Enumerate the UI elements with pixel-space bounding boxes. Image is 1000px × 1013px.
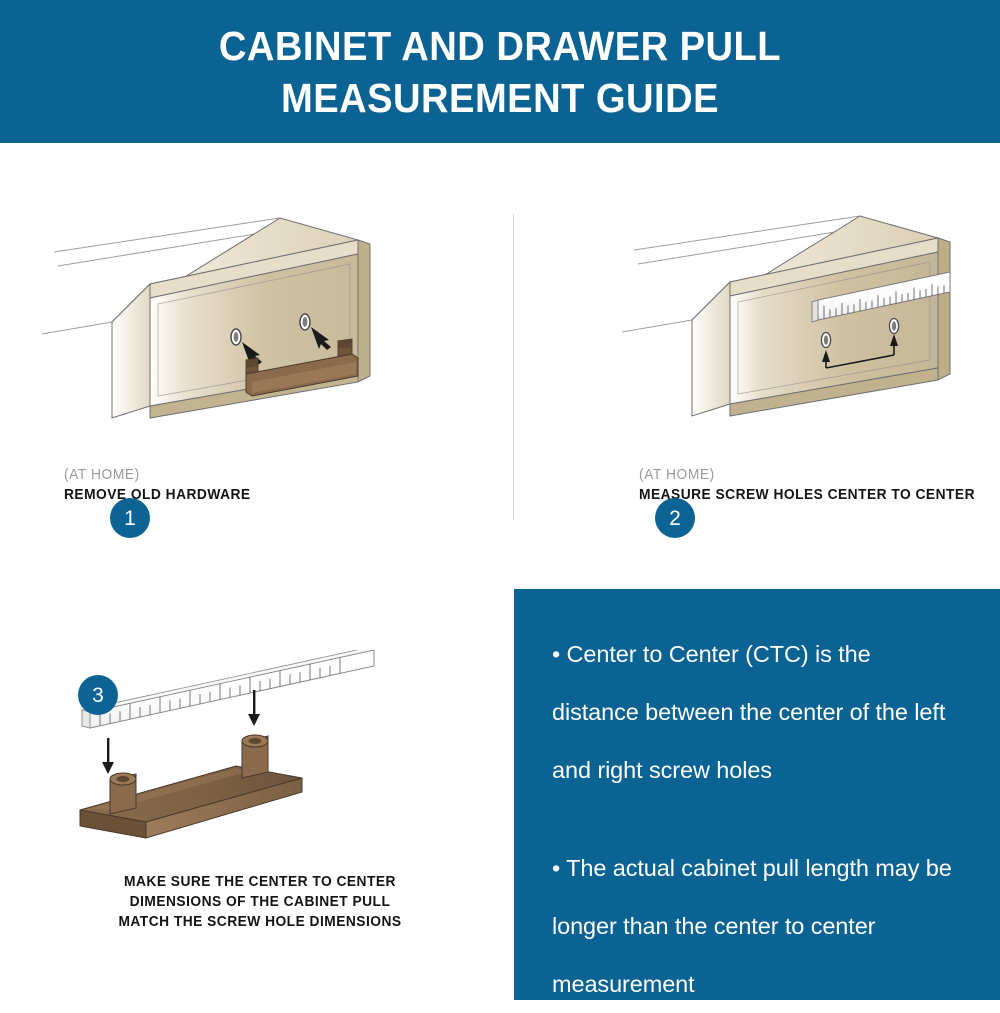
step-headline-3-line-3: MATCH THE SCREW HOLE DIMENSIONS <box>51 912 469 932</box>
step-number-1: 1 <box>124 508 136 529</box>
step-number-3: 3 <box>92 685 104 706</box>
infographic-page: CABINET AND DRAWER PULL MEASUREMENT GUID… <box>0 0 1000 1000</box>
page-title: CABINET AND DRAWER PULL MEASUREMENT GUID… <box>35 20 965 124</box>
pull-post-left <box>110 773 136 814</box>
step-caption-1: (AT HOME) REMOVE OLD HARDWARE <box>64 466 260 505</box>
cabinet-pull <box>80 735 302 838</box>
ruler <box>82 650 374 728</box>
header-banner: CABINET AND DRAWER PULL MEASUREMENT GUID… <box>0 0 1000 143</box>
drawer-measure-screw-holes-illustration <box>620 210 1000 470</box>
info-bullet-list: • Center to Center (CTC) is the distance… <box>552 625 962 1013</box>
screw-hole-right <box>889 319 898 334</box>
step-badge-3: 3 <box>78 675 118 715</box>
screw-hole-left <box>821 333 830 348</box>
info-bullet-2: • The actual cabinet pull length may be … <box>552 839 962 1013</box>
step-number-2: 2 <box>669 508 681 529</box>
step-headline-2: MEASURE SCREW HOLES CENTER TO CENTER <box>639 485 975 505</box>
pull-post-right <box>242 735 268 778</box>
drawer-remove-hardware-illustration <box>40 210 480 470</box>
step-badge-2: 2 <box>655 498 695 538</box>
info-bullet-1: • Center to Center (CTC) is the distance… <box>552 625 962 799</box>
page-title-line-2: MEASUREMENT GUIDE <box>35 72 965 124</box>
step-headline-1: REMOVE OLD HARDWARE <box>64 485 251 505</box>
step-headline-3: MAKE SURE THE CENTER TO CENTER DIMENSION… <box>51 872 469 932</box>
step-headline-3-line-1: MAKE SURE THE CENTER TO CENTER <box>51 872 469 892</box>
info-panel: • Center to Center (CTC) is the distance… <box>514 589 1000 1000</box>
step-eyebrow-2: (AT HOME) <box>639 466 975 485</box>
step-headline-3-line-2: DIMENSIONS OF THE CABINET PULL <box>51 892 469 912</box>
page-title-line-1: CABINET AND DRAWER PULL <box>35 20 965 72</box>
screw-hole-right <box>300 314 310 330</box>
vertical-divider <box>513 214 514 520</box>
step-badge-1: 1 <box>110 498 150 538</box>
step-caption-2: (AT HOME) MEASURE SCREW HOLES CENTER TO … <box>639 466 993 505</box>
step-eyebrow-1: (AT HOME) <box>64 466 251 485</box>
screw-hole-left <box>231 329 241 345</box>
step-caption-3: MAKE SURE THE CENTER TO CENTER DIMENSION… <box>40 872 480 932</box>
